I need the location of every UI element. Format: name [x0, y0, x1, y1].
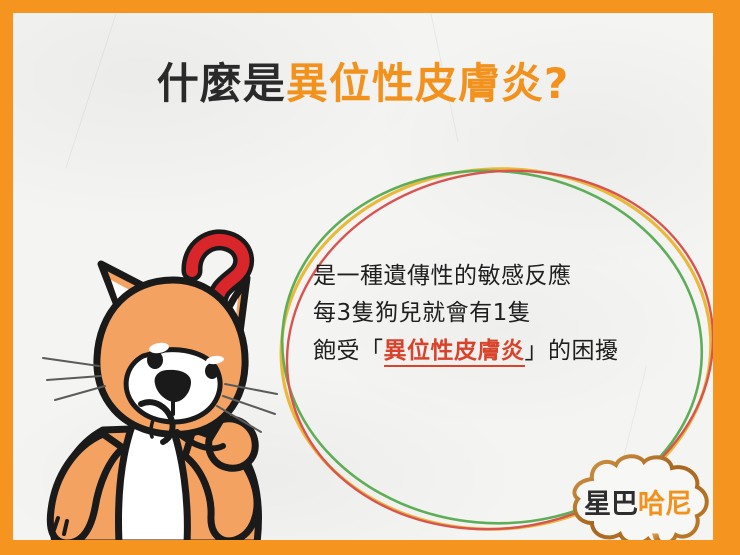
title-dark-text: 什麼是 — [157, 59, 286, 108]
brand-logo[interactable]: 星巴哈尼 — [558, 453, 713, 540]
paper-background: 什麼是異位性皮膚炎? 是一種遺傳性的敏感反應 每3隻狗兒就會有1隻 飽受「異位性… — [13, 13, 713, 540]
body-line-3-prefix: 飽受「 — [313, 338, 384, 364]
thinking-shiba-dog-icon — [25, 208, 295, 540]
body-line-2: 每3隻狗兒就會有1隻 — [313, 295, 683, 332]
poster-canvas: 什麼是異位性皮膚炎? 是一種遺傳性的敏感反應 每3隻狗兒就會有1隻 飽受「異位性… — [0, 0, 740, 555]
logo-text: 星巴哈尼 — [558, 453, 713, 540]
dog-left-eye — [147, 351, 163, 369]
body-text-block: 是一種遺傳性的敏感反應 每3隻狗兒就會有1隻 飽受「異位性皮膚炎」的困擾 — [313, 258, 683, 370]
body-line-3: 飽受「異位性皮膚炎」的困擾 — [313, 333, 683, 370]
dog-chest — [119, 423, 188, 540]
dog-whiskers — [43, 358, 99, 366]
dog-right-eye — [205, 363, 219, 379]
logo-dark-text: 星巴 — [584, 482, 638, 521]
title-orange-text: 異位性皮膚炎? — [286, 59, 569, 108]
body-line-1: 是一種遺傳性的敏感反應 — [313, 258, 683, 295]
logo-orange-text: 哈尼 — [638, 482, 692, 521]
body-highlight-term: 異位性皮膚炎 — [384, 338, 525, 367]
body-line-3-suffix: 」的困擾 — [525, 338, 619, 364]
page-title: 什麼是異位性皮膚炎? — [13, 61, 713, 107]
